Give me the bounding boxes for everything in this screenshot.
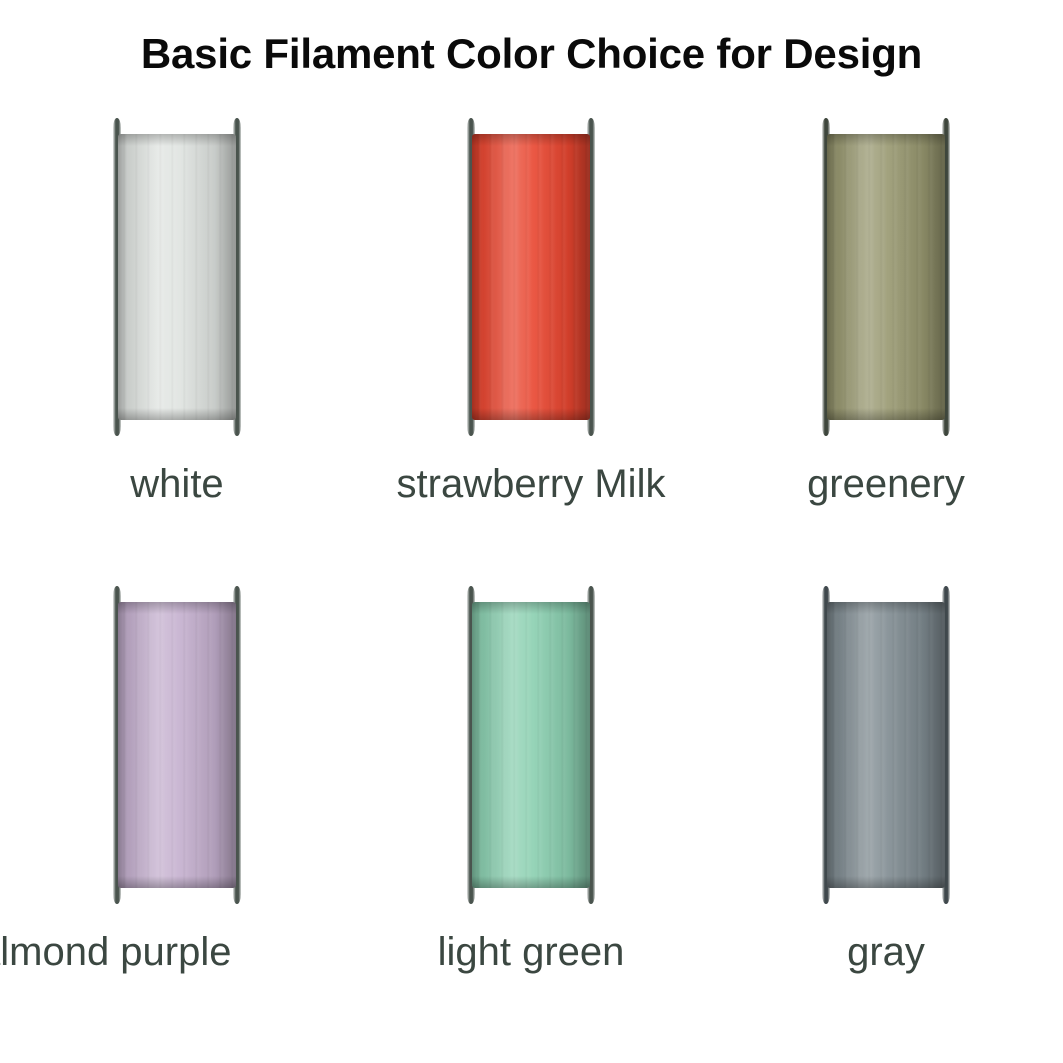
filament-spool-icon — [113, 118, 241, 436]
spool-shading — [118, 602, 236, 888]
spool-filament-body — [118, 602, 236, 888]
swatch-label: light green — [354, 930, 708, 975]
spool-cap-top — [118, 134, 236, 146]
swatch-cell-light-green[interactable]: light green — [354, 578, 708, 998]
spool-cap-bottom — [472, 876, 590, 888]
filament-spool-icon — [822, 118, 950, 436]
spool-shading — [472, 134, 590, 420]
swatch-cell-almond-purple[interactable]: almond purple — [0, 578, 354, 998]
spool-cap-bottom — [827, 408, 945, 420]
swatch-label: strawberry Milk — [354, 462, 708, 507]
spool-cap-top — [827, 602, 945, 614]
swatch-row-1: white strawberry Milk — [0, 110, 1063, 530]
spool-filament-body — [827, 602, 945, 888]
swatch-label: almond purple — [0, 930, 378, 975]
spool-filament-body — [472, 134, 590, 420]
spool-cap-top — [827, 134, 945, 146]
swatch-cell-greenery[interactable]: greenery — [709, 110, 1063, 530]
swatch-cell-gray[interactable]: gray — [709, 578, 1063, 998]
swatch-label: greenery — [709, 462, 1063, 507]
spool-cap-bottom — [118, 408, 236, 420]
filament-spool-icon — [467, 586, 595, 904]
page-title: Basic Filament Color Choice for Design — [0, 30, 1063, 78]
spool-cap-bottom — [827, 876, 945, 888]
spool-cap-top — [118, 602, 236, 614]
filament-spool-icon — [822, 586, 950, 904]
swatch-label: white — [0, 462, 354, 507]
spool-cap-bottom — [472, 408, 590, 420]
swatch-cell-white[interactable]: white — [0, 110, 354, 530]
spool-cap-bottom — [118, 876, 236, 888]
filament-spool-icon — [113, 586, 241, 904]
spool-shading — [827, 134, 945, 420]
swatch-row-2: almond purple light green — [0, 578, 1063, 998]
swatch-label: gray — [709, 930, 1063, 975]
spool-shading — [472, 602, 590, 888]
filament-color-chart: Basic Filament Color Choice for Design w… — [0, 0, 1063, 1063]
spool-cap-top — [472, 134, 590, 146]
spool-filament-body — [472, 602, 590, 888]
spool-cap-top — [472, 602, 590, 614]
spool-filament-body — [118, 134, 236, 420]
spool-shading — [827, 602, 945, 888]
filament-spool-icon — [467, 118, 595, 436]
swatch-cell-strawberry-milk[interactable]: strawberry Milk — [354, 110, 708, 530]
spool-filament-body — [827, 134, 945, 420]
spool-shading — [118, 134, 236, 420]
